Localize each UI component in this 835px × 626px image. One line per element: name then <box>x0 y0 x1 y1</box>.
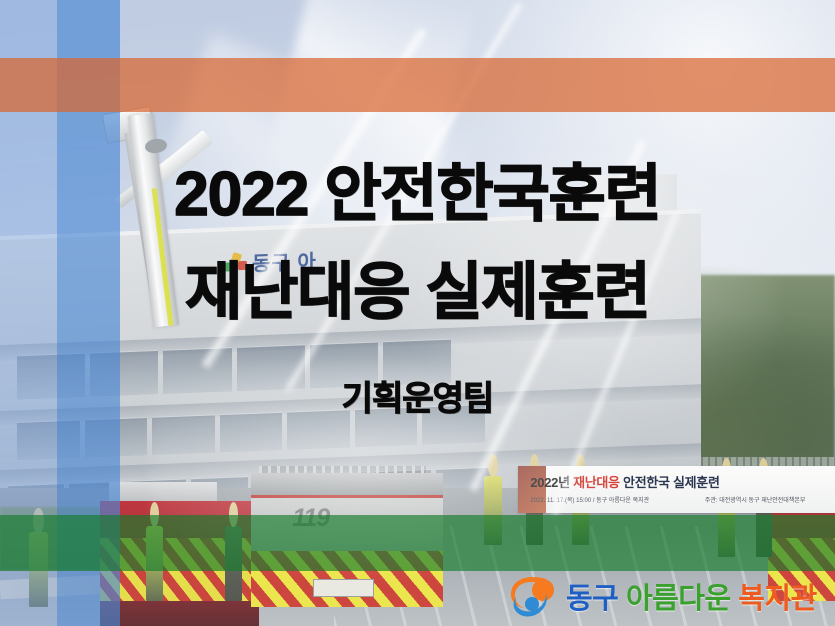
background-photograph: 동구 아 119 <box>0 0 835 626</box>
logo-word-3: 복지관 <box>738 583 817 615</box>
logo-word-2: 아름다운 <box>626 583 731 615</box>
organization-logo: 동구 아름다운 복지관 <box>502 572 817 620</box>
title-slide: 동구 아 119 <box>0 0 835 626</box>
logo-wordmark: 동구 아름다운 복지관 <box>566 575 817 617</box>
dong-gu-swirl-emblem-icon <box>502 573 558 619</box>
logo-word-1: 동구 <box>566 583 618 615</box>
photo-haze <box>0 0 835 626</box>
